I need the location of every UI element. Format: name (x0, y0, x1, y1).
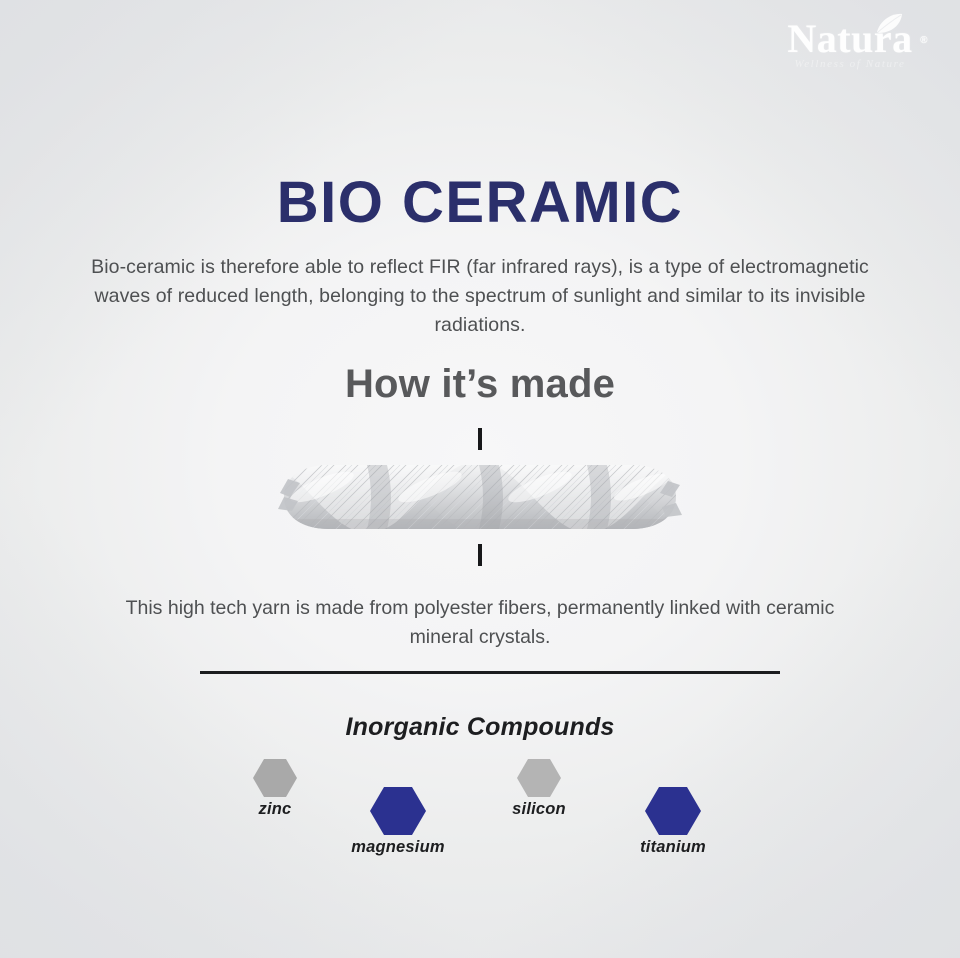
compound-silicon: silicon (490, 756, 588, 819)
measure-tick-top (478, 428, 482, 450)
yarn-illustration-area (0, 425, 960, 570)
hexagon-icon (226, 756, 324, 800)
compound-label: titanium (616, 838, 730, 857)
page-title: BIO CERAMIC (0, 172, 960, 234)
hexagon-icon (340, 784, 456, 838)
registered-mark: ® (920, 20, 928, 62)
yarn-caption: This high tech yarn is made from polyest… (120, 594, 840, 652)
how-its-made-heading: How it’s made (0, 362, 960, 407)
compound-zinc: zinc (226, 756, 324, 819)
compound-label: zinc (226, 800, 324, 819)
compound-magnesium: magnesium (340, 784, 456, 857)
brand-wordmark: Natura ® (760, 18, 940, 60)
leaf-icon (874, 12, 904, 36)
measure-tick-bottom (478, 544, 482, 566)
intro-paragraph: Bio-ceramic is therefore able to reflect… (80, 253, 880, 340)
bio-ceramic-infographic: Natura ® Wellness of Nature BIO CERAMIC … (0, 0, 960, 958)
brand-tagline: Wellness of Nature (760, 58, 940, 70)
compound-label: magnesium (340, 838, 456, 857)
compound-label: silicon (490, 800, 588, 819)
compound-titanium: titanium (616, 784, 730, 857)
section-divider (200, 671, 780, 674)
hexagon-icon (490, 756, 588, 800)
hexagon-icon (616, 784, 730, 838)
brand-logo: Natura ® Wellness of Nature (760, 18, 940, 88)
twisted-yarn-icon (278, 453, 682, 541)
compounds-section-title: Inorganic Compounds (0, 713, 960, 742)
